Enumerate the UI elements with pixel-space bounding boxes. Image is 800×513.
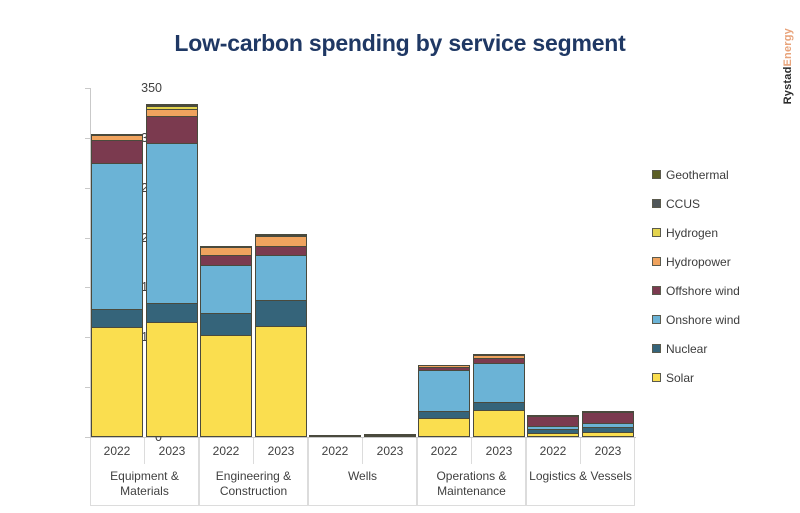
x-axis-group-label: Operations & Maintenance [417,466,526,506]
x-axis-year-label: 2023 [471,438,526,464]
bar-segment-solar[interactable] [582,432,634,437]
legend-swatch-icon [652,373,661,382]
legend-item-solar[interactable]: Solar [652,363,792,392]
x-axis-year-label: 2022 [90,438,144,464]
bar-segment-solar[interactable] [146,322,198,437]
bar-segment-nuclear[interactable] [255,300,307,327]
x-axis-year-row: 20222023 [417,438,526,464]
watermark-energy: Energy [782,28,794,67]
bar-stack[interactable] [146,97,198,437]
bar-stack[interactable] [418,358,470,437]
legend-item-geothermal[interactable]: Geothermal [652,160,792,189]
bar-stack[interactable] [255,228,307,437]
bar-stack[interactable] [309,434,361,437]
x-axis-year-row: 20222023 [199,438,308,464]
legend-swatch-icon [652,344,661,353]
legend-label: CCUS [666,197,700,211]
bar-segment-solar[interactable] [527,433,579,437]
x-axis-year-label: 2022 [526,438,580,464]
bar-segment-solar[interactable] [200,335,252,437]
legend-label: Onshore wind [666,313,740,327]
x-axis-year-label: 2023 [580,438,635,464]
plot-area [90,88,635,437]
legend-item-onshore-wind[interactable]: Onshore wind [652,305,792,334]
x-axis-group-label: Wells [308,466,417,506]
legend-item-nuclear[interactable]: Nuclear [652,334,792,363]
legend-label: Hydrogen [666,226,718,240]
bar-segment-onshore-wind[interactable] [146,143,198,305]
x-axis-year-label: 2022 [417,438,471,464]
x-axis-year-label: 2023 [253,438,308,464]
chart-legend: GeothermalCCUSHydrogenHydropowerOffshore… [652,160,792,392]
bar-segment-offshore-wind[interactable] [91,140,143,164]
rystad-energy-watermark: RystadEnergy [782,28,794,104]
bar-segment-offshore-wind[interactable] [146,116,198,144]
bar-segment-solar[interactable] [473,410,525,437]
x-axis-group-label: Engineering & Construction [199,466,308,506]
legend-swatch-icon [652,170,661,179]
bar-segment-nuclear[interactable] [91,309,143,328]
legend-swatch-icon [652,315,661,324]
bar-segment-ccus[interactable] [309,435,361,437]
bar-segment-onshore-wind[interactable] [200,265,252,315]
legend-swatch-icon [652,228,661,237]
bar-segment-onshore-wind[interactable] [473,363,525,403]
legend-label: Geothermal [666,168,729,182]
bar-segment-nuclear[interactable] [200,313,252,336]
bar-stack[interactable] [473,347,525,437]
legend-label: Nuclear [666,342,707,356]
legend-item-offshore-wind[interactable]: Offshore wind [652,276,792,305]
x-axis-year-label: 2022 [308,438,362,464]
bar-segment-onshore-wind[interactable] [418,370,470,412]
legend-label: Offshore wind [666,284,740,298]
bar-segment-onshore-wind[interactable] [255,255,307,302]
x-axis-group-label: Logistics & Vessels [526,466,635,506]
bar-stack[interactable] [527,409,579,437]
legend-swatch-icon [652,257,661,266]
bar-stack[interactable] [200,240,252,437]
legend-swatch-icon [652,199,661,208]
legend-item-hydrogen[interactable]: Hydrogen [652,218,792,247]
bar-stack[interactable] [582,405,634,437]
x-axis-year-label: 2022 [199,438,253,464]
bar-segment-ccus[interactable] [364,435,416,437]
bar-segment-solar[interactable] [91,327,143,437]
bar-segment-solar[interactable] [418,418,470,437]
legend-item-ccus[interactable]: CCUS [652,189,792,218]
legend-item-hydropower[interactable]: Hydropower [652,247,792,276]
bar-segment-onshore-wind[interactable] [91,163,143,311]
legend-swatch-icon [652,286,661,295]
watermark-rystad: Rystad [782,67,794,105]
x-axis-year-row: 20222023 [526,438,635,464]
x-axis-year-label: 2023 [362,438,417,464]
x-axis-year-label: 2023 [144,438,199,464]
bar-stack[interactable] [364,433,416,437]
legend-label: Solar [666,371,694,385]
page-title: Low-carbon spending by service segment [0,30,800,57]
x-axis-year-row: 20222023 [308,438,417,464]
legend-label: Hydropower [666,255,731,269]
bar-segment-solar[interactable] [255,326,307,437]
chart-root: Low-carbon spending by service segment R… [0,0,800,513]
bar-segment-nuclear[interactable] [146,303,198,323]
bar-stack[interactable] [91,127,143,437]
x-axis-year-row: 20222023 [90,438,199,464]
x-axis-group-label: Equipment & Materials [90,466,199,506]
